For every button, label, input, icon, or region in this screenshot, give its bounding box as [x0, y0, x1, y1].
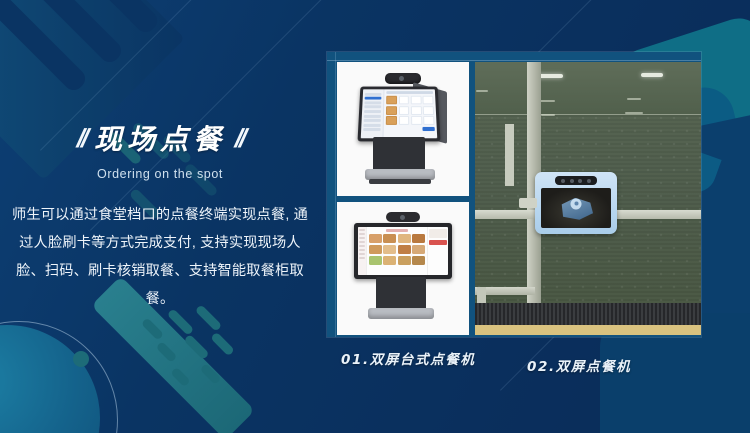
food-item [412, 256, 425, 266]
category-tick [359, 253, 365, 255]
camera-lens-icon [578, 179, 582, 183]
scene-floor-stripe [475, 325, 701, 335]
category-tick [359, 257, 365, 259]
menu-cell [423, 116, 434, 125]
category-tick [359, 249, 365, 251]
gallery [337, 62, 701, 335]
cart-panel [427, 227, 448, 275]
teal-dash-b5 [183, 334, 209, 360]
slash-right-icon: // [234, 123, 245, 154]
ceiling-lamp-reflection [541, 114, 555, 116]
category-tick [359, 237, 365, 239]
slash-left-icon: // [75, 123, 86, 154]
menu-cell [399, 96, 410, 105]
food-grid-area [367, 227, 427, 275]
food-item [412, 245, 425, 255]
pos-terminal-wide [350, 212, 456, 324]
menu-cell [386, 96, 397, 105]
menu-cell [411, 105, 422, 114]
ceiling-lamp-reflection [627, 98, 641, 100]
sidebar-row [364, 101, 381, 104]
gallery-item-2[interactable] [475, 62, 701, 335]
sidebar-row [363, 123, 381, 126]
food-item [369, 256, 382, 266]
bottom-left-circle [0, 325, 100, 433]
sidebar-row [364, 119, 382, 122]
page-subtitle: Ordering on the spot [0, 167, 320, 181]
menu-cell [411, 116, 422, 125]
display-content [358, 227, 448, 275]
terminal-stand [373, 137, 425, 171]
teal-dash-b3 [170, 367, 191, 388]
pay-button [429, 240, 447, 245]
pos-terminal-angled [351, 73, 455, 185]
terminal-base [368, 308, 434, 319]
food-item [383, 256, 396, 266]
ceiling-lamp-reflection [476, 90, 488, 92]
menu-title-bar [386, 229, 408, 232]
sidebar-row [365, 92, 382, 95]
category-tick [359, 241, 365, 243]
camera-lens-icon [570, 179, 574, 183]
title-row: // 现场点餐 // [0, 118, 320, 158]
food-item [398, 256, 411, 266]
camera-module-icon [386, 212, 420, 222]
category-tick [359, 245, 365, 247]
top-left-stripe-2 [25, 0, 125, 66]
menu-cell [423, 96, 434, 105]
terminal-support-post [505, 124, 514, 186]
text-block: // 现场点餐 // Ordering on the spot 师生可以通过食堂… [0, 118, 320, 313]
menu-cell [386, 105, 397, 114]
teal-dash-b6 [200, 363, 222, 385]
terminal-stand [376, 277, 426, 310]
menu-area [384, 89, 438, 138]
display-content [361, 89, 437, 138]
cart-list [429, 229, 447, 238]
face-recognition-icon [571, 199, 582, 210]
sidebar-row-active [365, 97, 382, 100]
camera-lens-icon [561, 179, 565, 183]
ceiling-lamp-reflection [625, 112, 643, 114]
teal-dash-b2 [156, 341, 178, 363]
food-item [383, 245, 396, 255]
food-item [369, 234, 382, 244]
primary-display [357, 86, 440, 141]
food-item [383, 234, 396, 244]
panel-hairline-left [335, 52, 336, 337]
terminal-foot [369, 179, 431, 184]
camera-bar-icon [555, 176, 597, 185]
top-left-stripe-1 [0, 0, 89, 94]
terminal-screen [541, 188, 611, 228]
menu-cell [423, 105, 434, 114]
menu-cell [411, 96, 422, 105]
product-photo-dual-screen-bottom[interactable] [337, 202, 469, 336]
sidebar-row [363, 128, 381, 131]
top-left-stripe-3 [61, 0, 161, 36]
category-rail [358, 227, 367, 275]
gallery-item-1[interactable] [337, 62, 469, 335]
slide-root: // 现场点餐 // Ordering on the spot 师生可以通过食堂… [0, 0, 750, 433]
sidebar-row [364, 114, 381, 117]
category-tick [359, 233, 365, 235]
camera-lens-icon [587, 179, 591, 183]
food-item [398, 245, 411, 255]
food-grid [369, 234, 425, 266]
teal-dash-b1 [141, 317, 164, 340]
terminal-mount-arm [519, 198, 537, 208]
food-item [369, 245, 382, 255]
bottom-left-circle-ring [0, 321, 118, 433]
scene-floor [475, 303, 701, 325]
food-item [412, 234, 425, 244]
panel-hairline-top [327, 60, 701, 61]
gallery-caption-2: 02.双屏点餐机 [527, 355, 631, 375]
body-paragraph: 师生可以通过食堂档口的点餐终端实现点餐, 通过人脸刷卡等方式完成支付, 支持实现… [8, 201, 312, 313]
category-tick [359, 229, 365, 231]
menu-cell [399, 105, 410, 114]
menu-grid [386, 96, 435, 125]
food-item [398, 234, 411, 244]
primary-display [354, 223, 452, 279]
sidebar-row [364, 105, 381, 108]
page-title: 现场点餐 [94, 118, 226, 158]
ceiling-lamp [641, 73, 663, 77]
ceiling-lamp-reflection [539, 100, 555, 102]
teal-dot [73, 351, 89, 367]
menu-cell [399, 116, 410, 125]
teal-dash-b8 [210, 332, 235, 357]
order-sidebar [361, 89, 385, 138]
menu-header [387, 91, 434, 94]
gallery-caption-1: 01.双屏台式点餐机 [341, 348, 475, 368]
product-photo-dual-screen-top[interactable] [337, 62, 469, 196]
menu-cell [386, 116, 397, 125]
sidebar-row [364, 110, 381, 113]
wall-mounted-ordering-terminal [535, 172, 617, 234]
confirm-button [422, 127, 435, 131]
scene-ceiling [475, 62, 701, 115]
